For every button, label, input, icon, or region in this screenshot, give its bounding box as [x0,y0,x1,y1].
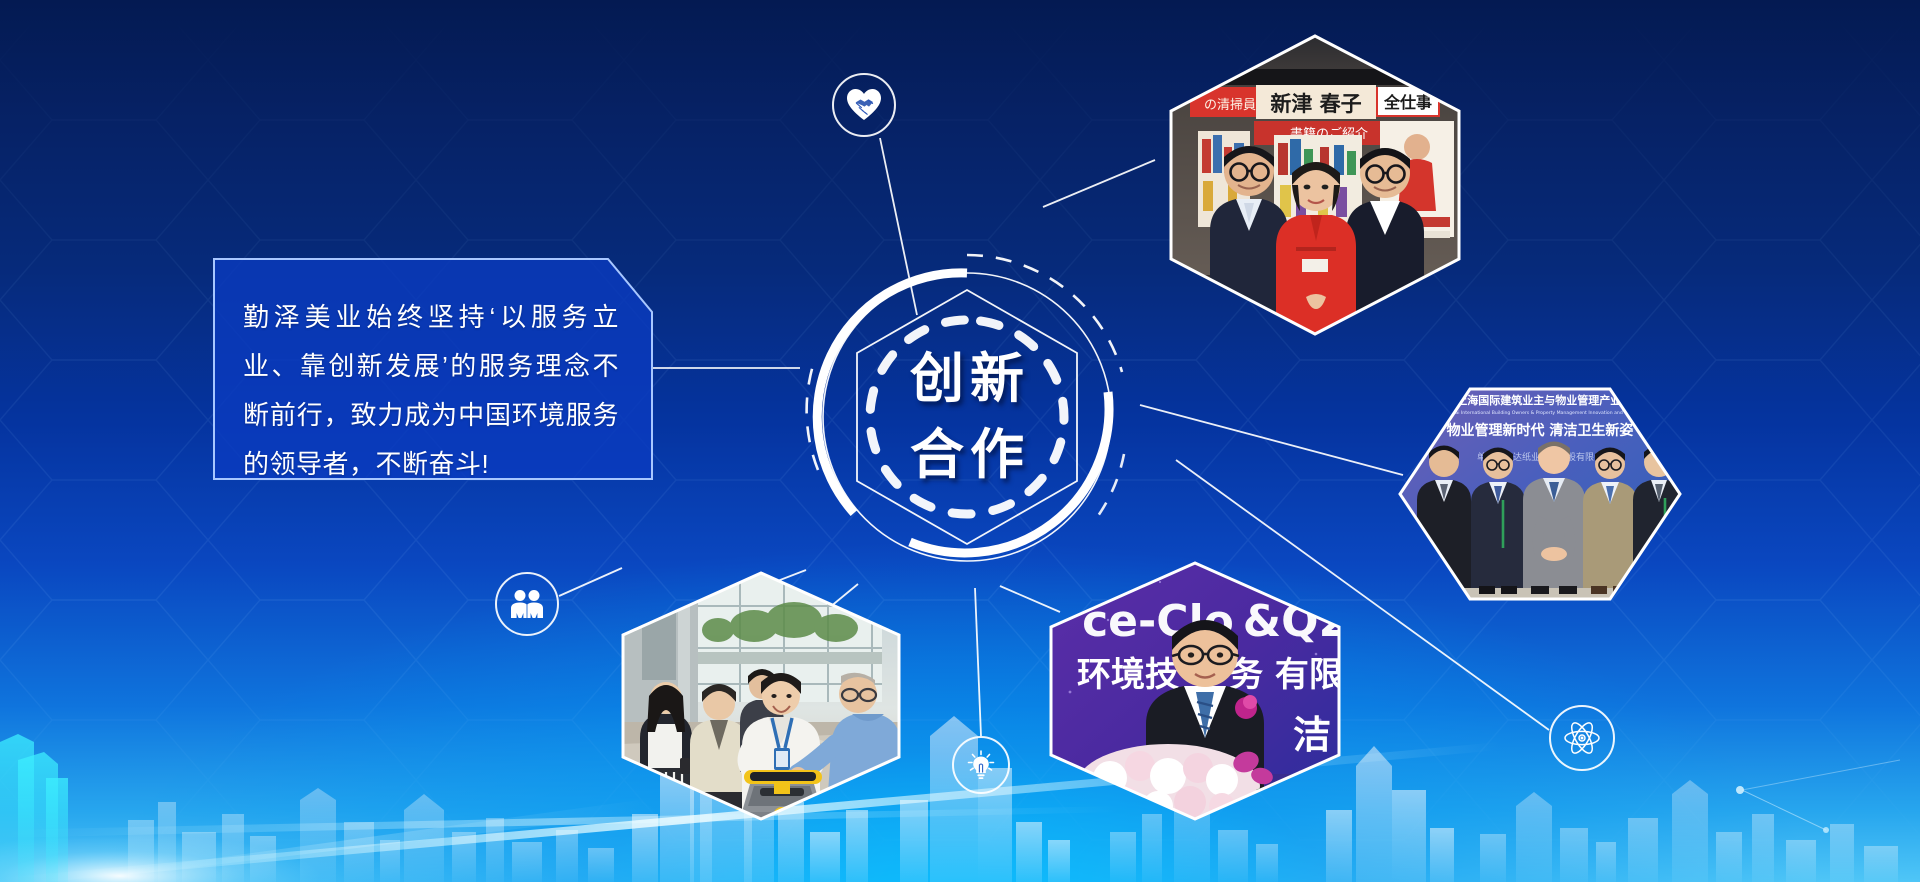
photo-conference-artwork: 2019上海国际建筑业主与物业管理产业创新发 2019 Shanghai Int… [1399,388,1681,600]
central-hub: 创新 合作 [792,242,1142,592]
mission-statement-panel: 勤泽美业始终坚持‘以服务立业、靠创新发展’的服务理念不断前行，致力成为中国环境服… [213,258,653,480]
svg-text:2019 Shanghai International Bu: 2019 Shanghai International Building Own… [1425,410,1655,416]
hub-rings [792,242,1142,592]
photo-speaker-artwork: ce-Clo &Q2 环境技 务 有限 洁 服务业联盟系列活 [1050,562,1340,820]
photo-equipment-demo[interactable] [622,572,900,820]
photo-bookstore-artwork: 新津 春子 全仕事 の清掃員 書籍のご紹介 [1170,35,1460,335]
photo-speaker-podium[interactable]: ce-Clo &Q2 环境技 务 有限 洁 服务业联盟系列活 [1050,562,1340,820]
two-people-icon [510,589,544,619]
handshake-heart-icon [846,88,882,122]
svg-text:の清掃員: の清掃員 [1204,97,1256,113]
svg-text:全仕事: 全仕事 [1383,93,1432,112]
atom-icon [1563,719,1601,757]
lightbulb-icon [966,750,996,780]
svg-text:洁: 洁 [1293,713,1331,757]
photo-conference-group[interactable]: 2019上海国际建筑业主与物业管理产业创新发 2019 Shanghai Int… [1399,388,1681,600]
mission-statement-text: 勤泽美业始终坚持‘以服务立业、靠创新发展’的服务理念不断前行，致力成为中国环境服… [243,293,619,489]
svg-text:&Q2: &Q2 [1243,596,1340,647]
photo-equipment-demo-artwork [622,572,900,820]
svg-text:环境技: 环境技 [1077,655,1179,695]
svg-text:2019上海国际建筑业主与物业管理产业创新发: 2019上海国际建筑业主与物业管理产业创新发 [1426,393,1656,407]
node-people[interactable] [495,572,559,636]
node-handshake[interactable] [832,73,896,137]
svg-text:务 有限: 务 有限 [1229,655,1340,695]
svg-text:物业管理新时代 清洁卫生新姿: 物业管理新时代 清洁卫生新姿 [1447,422,1635,439]
photo-bookstore-group[interactable]: 新津 春子 全仕事 の清掃員 書籍のご紹介 [1170,35,1460,335]
banner-stage: 勤泽美业始终坚持‘以服务立业、靠创新发展’的服务理念不断前行，致力成为中国环境服… [0,0,1920,882]
svg-text:新津 春子: 新津 春子 [1270,92,1361,116]
node-lightbulb[interactable] [952,736,1010,794]
node-atom[interactable] [1549,705,1615,771]
